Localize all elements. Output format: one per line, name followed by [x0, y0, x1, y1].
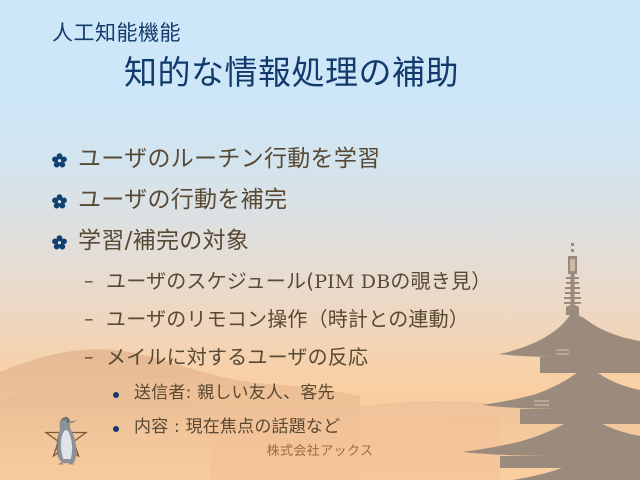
dash-bullet-icon: – — [84, 342, 106, 372]
bullet-text-latin: PIM DB — [314, 271, 390, 293]
bullet-text: ユーザのスケジュール(PIM DBの覗き見） — [106, 266, 491, 297]
dash-bullet-icon: – — [84, 304, 106, 334]
flower-bullet-icon — [52, 227, 78, 257]
bullet-text-prefix: ユーザのスケジュール( — [106, 269, 314, 293]
slide-kicker: 人工知能機能 — [52, 18, 640, 48]
bullet-item-level2: – ユーザのリモコン操作（時計との連動） — [0, 304, 640, 342]
bullet-item-level2: – メイルに対するユーザの反応 — [0, 342, 640, 380]
dash-bullet-icon: – — [84, 266, 106, 296]
bullet-text: メイルに対するユーザの反応 — [106, 342, 368, 372]
bullet-text-suffix: の覗き見） — [390, 269, 491, 293]
slide-title-block: 人工知能機能 知的な情報処理の補助 — [0, 18, 640, 96]
bullet-text: 内容 : 現在焦点の話題など — [134, 414, 340, 440]
bullet-text: 学習/補完の対象 — [78, 225, 249, 257]
bullet-item-level1: ユーザの行動を補完 — [0, 184, 640, 225]
bullet-item-level1: ユーザのルーチン行動を学習 — [0, 143, 640, 184]
bullet-text: 送信者: 親しい友人、客先 — [134, 380, 335, 406]
flower-bullet-icon — [52, 145, 78, 175]
dot-bullet-icon — [113, 382, 134, 408]
bullet-item-level1: 学習/補完の対象 — [0, 225, 640, 266]
penguin-on-star-logo — [22, 404, 110, 478]
penguin-icon — [57, 417, 78, 464]
bullet-text: ユーザの行動を補完 — [78, 184, 287, 216]
slide-bullet-list: ユーザのルーチン行動を学習 ユーザの行動を補完 — [0, 143, 640, 448]
flower-bullet-icon — [52, 186, 78, 216]
bullet-text: ユーザのリモコン操作（時計との連動） — [106, 304, 469, 334]
bullet-text: ユーザのルーチン行動を学習 — [78, 143, 380, 175]
slide-heading: 知的な情報処理の補助 — [124, 50, 640, 96]
bullet-item-level2: – ユーザのスケジュール(PIM DBの覗き見） — [0, 266, 640, 304]
dot-bullet-icon — [113, 416, 134, 442]
presentation-slide: 人工知能機能 知的な情報処理の補助 ユーザのルーチン — [0, 0, 640, 480]
